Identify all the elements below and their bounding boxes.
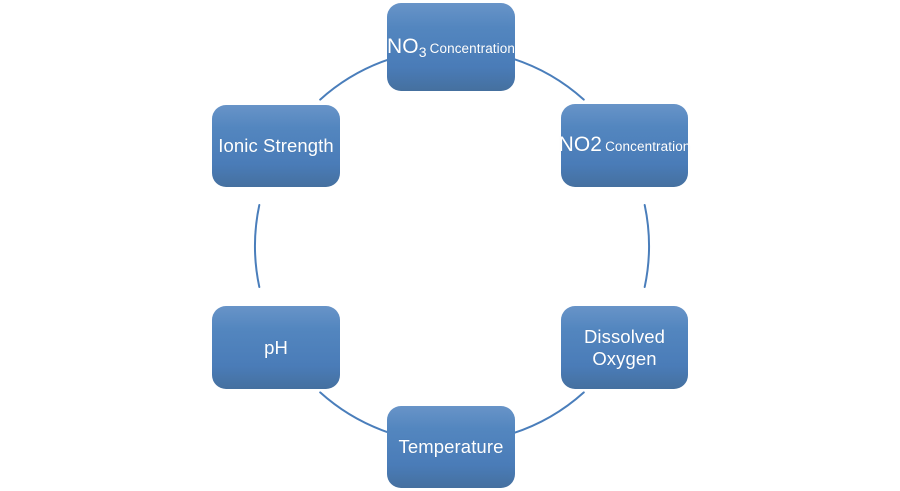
ring-arc-0 (513, 59, 584, 100)
chem-base: NO (387, 35, 419, 58)
chem-tail: Concentration (430, 41, 515, 56)
node-temperature[interactable]: Temperature (387, 406, 515, 488)
node-label: Dissolved Oxygen (578, 326, 671, 370)
node-label: NO2Concentration (553, 133, 697, 158)
ring-arc-3 (320, 392, 391, 433)
node-ph[interactable]: pH (212, 306, 340, 389)
chem-base: NO2 (559, 133, 602, 156)
ring-arc-5 (320, 59, 391, 100)
node-label: Ionic Strength (212, 135, 340, 157)
node-label: NO3Concentration (381, 35, 521, 60)
node-label: Temperature (393, 436, 510, 458)
cycle-diagram-canvas: NO3Concentration NO2Concentration Dissol… (0, 0, 900, 491)
ring-arc-2 (513, 392, 584, 433)
chem-tail: Concentration (605, 139, 690, 154)
node-dissolved-oxygen[interactable]: Dissolved Oxygen (561, 306, 688, 389)
ring-arc-4 (255, 205, 259, 287)
node-no3-concentration[interactable]: NO3Concentration (387, 3, 515, 91)
node-ionic-strength[interactable]: Ionic Strength (212, 105, 340, 187)
node-label: pH (258, 337, 294, 359)
ring-arc-1 (645, 205, 649, 287)
node-no2-concentration[interactable]: NO2Concentration (561, 104, 688, 187)
chem-subscript: 3 (419, 44, 427, 60)
